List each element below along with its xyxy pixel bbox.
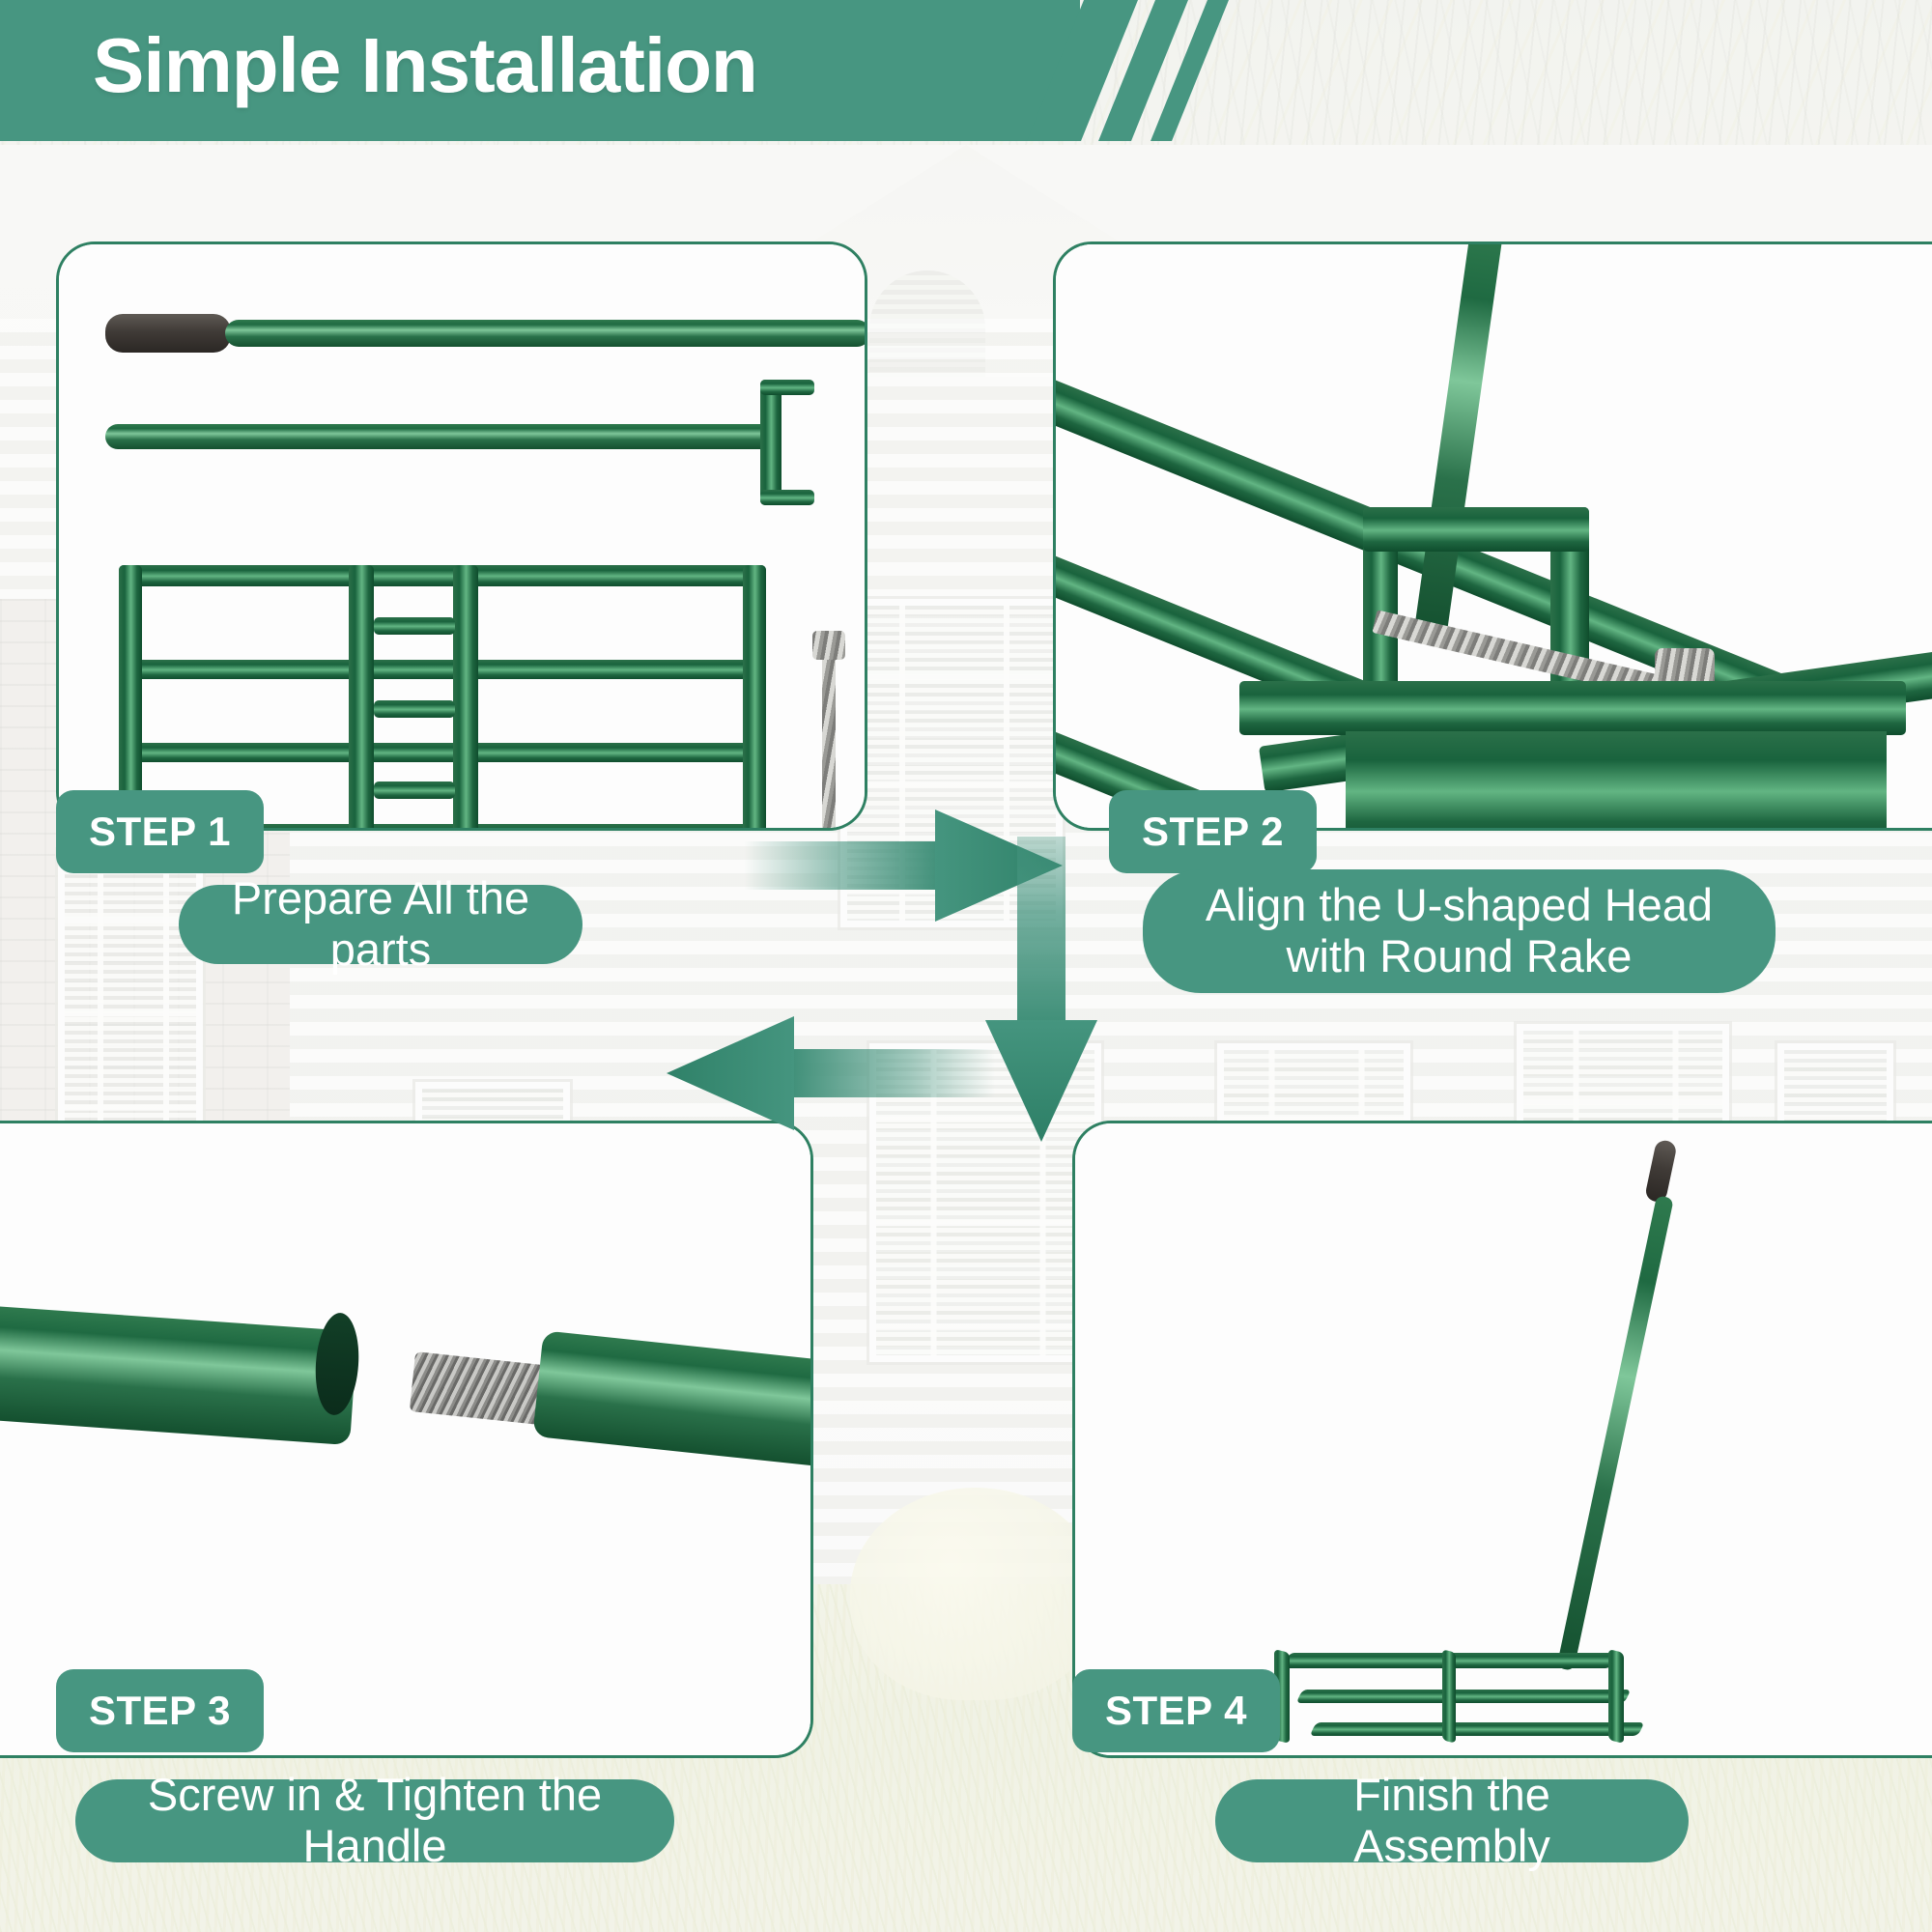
u-bracket-bottom-arm	[760, 490, 814, 505]
u-bracket-top-arm	[760, 380, 814, 395]
handle-grip-cap	[105, 314, 231, 353]
step-2-caption: Align the U-shaped Head with Round Rake	[1143, 869, 1776, 993]
rake-head-body	[1346, 731, 1887, 831]
arrow-tail	[790, 1049, 995, 1097]
mounting-plate	[1239, 681, 1906, 735]
u-bracket-spine	[760, 380, 781, 505]
header-banner: Simple Installation	[0, 0, 1198, 141]
assembled-rake-frame-right	[1608, 1649, 1624, 1744]
arrow-head	[985, 1020, 1097, 1142]
rake-mid-rail	[374, 617, 455, 635]
step-1-badge: STEP 1	[56, 790, 264, 873]
step-1-panel[interactable]	[56, 241, 867, 831]
step-4-photo	[1075, 1123, 1932, 1755]
rake-mid-rail	[374, 781, 455, 799]
step-2-badge: STEP 2	[1109, 790, 1317, 873]
upper-handle-pole	[225, 320, 867, 347]
rake-frame-top	[119, 565, 766, 586]
rake-crossbar	[453, 565, 478, 831]
step-3-caption: Screw in & Tighten the Handle	[75, 1779, 674, 1862]
step-4-caption: Finish the Assembly	[1215, 1779, 1689, 1862]
step-4-panel[interactable]	[1072, 1121, 1932, 1758]
assembled-handle-pole	[1556, 1195, 1674, 1671]
step-2-photo	[1056, 244, 1932, 828]
rake-crossbar	[349, 565, 374, 831]
page-title: Simple Installation	[93, 21, 757, 110]
arrow-tail	[744, 841, 942, 890]
step-1-photo	[59, 244, 865, 828]
assembled-rake-rail	[1310, 1722, 1645, 1736]
step-4-badge: STEP 4	[1072, 1669, 1280, 1752]
rake-frame-right	[743, 565, 766, 831]
u-bracket-crown	[1363, 507, 1589, 552]
step-2-panel[interactable]	[1053, 241, 1932, 831]
arrow-turn-to-step3-icon	[667, 1016, 995, 1130]
pole-threaded-section	[532, 1330, 813, 1469]
pole-socket-opening	[312, 1312, 361, 1417]
assembled-rake-crossbar	[1442, 1649, 1456, 1743]
rake-rail	[119, 743, 766, 762]
lower-pole	[105, 424, 781, 449]
step-3-badge: STEP 3	[56, 1669, 264, 1752]
arrow-step2-to-step3-icon	[985, 837, 1097, 1142]
step-3-photo	[0, 1123, 810, 1755]
step-1-caption: Prepare All the parts	[179, 885, 582, 964]
pole-socket-end	[0, 1305, 357, 1445]
arrow-head	[667, 1016, 794, 1130]
assembly-bolt	[822, 639, 836, 831]
assembled-grip-cap	[1644, 1139, 1678, 1204]
assembly-nut	[812, 631, 845, 660]
rake-rail	[119, 660, 766, 679]
assembled-rake-rail	[1296, 1690, 1632, 1703]
step-3-panel[interactable]	[0, 1121, 813, 1758]
rake-mid-rail	[374, 700, 455, 718]
arrow-tail	[1017, 837, 1065, 1026]
